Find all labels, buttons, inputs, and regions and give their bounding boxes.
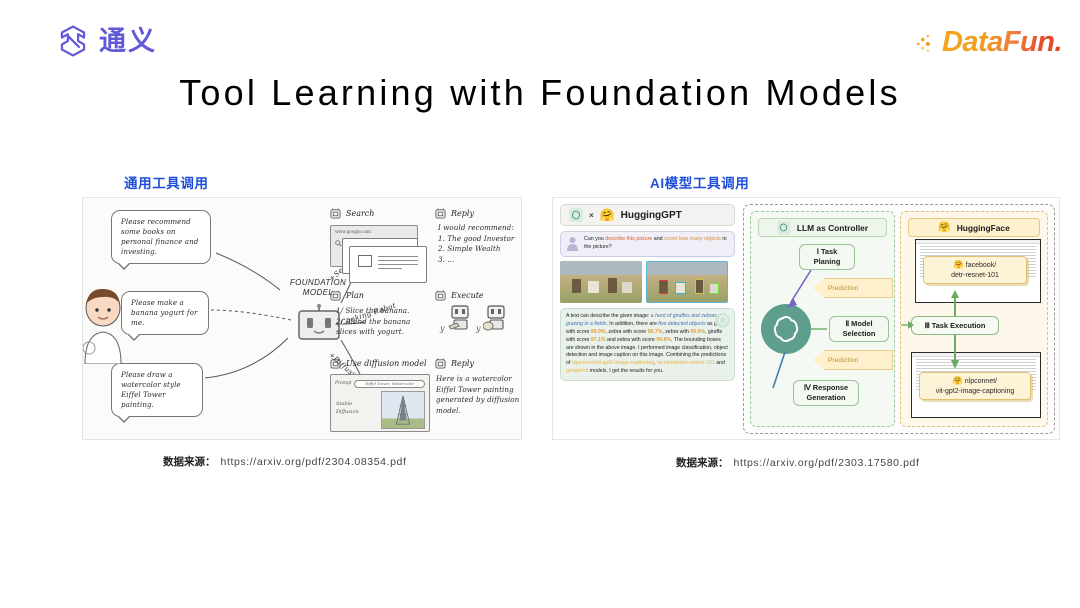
tongyi-wordmark: 通义	[99, 28, 157, 55]
source-left: 数据来源：https://arxiv.org/pdf/2304.08354.pd…	[163, 454, 407, 469]
sd-prompt-value: Eiffel Tower, Watercolor	[354, 380, 425, 388]
panel-head-label: Plan	[346, 291, 364, 300]
search-result-card	[349, 246, 427, 283]
a-p4: , zebra with score	[606, 329, 648, 335]
openai-logo-icon	[569, 208, 583, 222]
stage-model-selection: Ⅱ Model Selection	[829, 316, 889, 342]
eiffel-tower-illustration	[382, 392, 424, 428]
page-title: Tool Learning with Foundation Models	[0, 72, 1080, 114]
photo-animal	[608, 278, 617, 293]
panel-head-plan: Plan	[330, 290, 364, 301]
cooking-robot-icon	[447, 304, 473, 334]
output-photo-annotated	[646, 261, 728, 303]
execute-mark: y	[440, 324, 445, 333]
section-caption-general-tools: 通用工具调用	[124, 172, 209, 192]
result-text-lines	[378, 256, 418, 272]
source-url: https://arxiv.org/pdf/2304.08354.pdf	[221, 456, 407, 468]
photo-bbox	[659, 280, 668, 294]
photo-animal	[572, 279, 581, 293]
column-head-label: LLM as Controller	[797, 223, 868, 233]
input-photo-original	[560, 261, 642, 303]
sd-prompt-label: Prompt	[335, 381, 351, 386]
panel-head-label: Reply	[451, 209, 474, 218]
datafun-logo: DataFun.	[914, 28, 1062, 57]
a-p5: , zebra with	[662, 329, 690, 335]
photo-bbox	[709, 283, 719, 294]
user-avatar-icon	[566, 236, 579, 251]
result-thumbnail	[358, 255, 372, 267]
plan-text: 1/ Slice the banana. 2/ Blend the banana…	[336, 306, 428, 338]
panel-head-execute: Execute	[435, 290, 484, 301]
user-question-box: Can you describe this picture and count …	[560, 231, 735, 257]
assistant-answer-text: A text can describe the given image: a h…	[566, 313, 729, 376]
user-request-bubble-3: Please draw a watercolor style Eiffel To…	[111, 363, 203, 417]
column-head-controller: LLM as Controller	[758, 218, 887, 237]
panel-head-reply-1: Reply	[435, 208, 474, 219]
doc-toolbar	[916, 240, 1040, 244]
a-p1: A text can describe the given image:	[566, 313, 651, 319]
photo-bbox	[675, 282, 686, 294]
a-detected: five detected objects	[658, 321, 705, 327]
panel-head-use-diffusion-model: Use diffusion model	[330, 358, 427, 369]
photo-animal	[622, 282, 632, 293]
a-model-1: nlpconnet/vit-gpt2-image-captioning	[572, 360, 654, 366]
tool-icon	[330, 208, 341, 219]
reply-2-text: Here is a watercolor Eiffel Tower painti…	[436, 374, 522, 417]
photo-animal	[588, 281, 599, 293]
reply-1-text: I would recommend: 1. The good Investor …	[438, 223, 522, 266]
photo-sky	[560, 261, 642, 275]
panel-head-label: Use diffusion model	[346, 359, 427, 368]
user-question-text: Can you describe this picture and count …	[584, 236, 729, 252]
stage-task-execution: Ⅲ Task Execution	[911, 316, 999, 335]
search-icon	[335, 240, 342, 247]
a-p11: models, I get the results for you.	[588, 368, 663, 374]
openai-logo-icon	[777, 221, 791, 235]
sd-model-name: Stable Diffusion	[336, 401, 359, 416]
model-card-detr: 🤗 facebook/ detr-resnet-101	[923, 256, 1027, 284]
a-score-4: 97.1%	[591, 337, 606, 343]
tool-icon	[330, 358, 341, 369]
user-avatar-illustration	[82, 286, 131, 364]
source-label: 数据来源：	[163, 456, 216, 468]
openai-logo-icon	[715, 313, 730, 328]
column-head-huggingface: 🤗 HuggingFace	[908, 218, 1040, 237]
panel-head-label: Reply	[451, 359, 474, 368]
multiply-symbol: ×	[589, 211, 594, 220]
doc-toolbar	[912, 353, 1040, 357]
column-head-label: HuggingFace	[957, 223, 1010, 233]
tool-icon	[435, 208, 446, 219]
a-p2: . In addition, there are	[606, 321, 658, 327]
source-label: 数据来源：	[676, 457, 729, 469]
a-score-3: 99.9%	[690, 329, 705, 335]
figure-general-tool-use: Please recommend some books on personal …	[82, 197, 522, 440]
stage-task-planning: Ⅰ Task Planing	[799, 244, 855, 270]
input-photo-row	[560, 261, 735, 303]
user-request-bubble-1: Please recommend some books on personal …	[111, 210, 211, 264]
panel-head-label: Execute	[451, 291, 484, 300]
model-card-vit-gpt2: 🤗 nlpconnet/ vit-gpt2-image-captioning	[919, 372, 1031, 400]
huggingface-emoji-icon: 🤗	[954, 260, 964, 269]
tongyi-logo: 通义	[56, 24, 157, 58]
q-highlight-2: count how many objects	[664, 236, 721, 242]
browser-url: www.google.com	[335, 229, 371, 234]
tongyi-mark-icon	[56, 24, 90, 58]
q-plain-2: and	[652, 236, 664, 242]
a-score-2: 99.7%	[648, 329, 663, 335]
q-highlight-1: describe this picture	[605, 236, 652, 242]
llm-hub-icon	[761, 304, 811, 354]
huggingface-emoji-icon: 🤗	[938, 223, 950, 233]
app-title: HuggingGPT	[621, 210, 682, 221]
pipeline-container: LLM as Controller Ⅰ Task Planing Ⅱ Model…	[743, 204, 1055, 434]
tool-icon	[435, 358, 446, 369]
prediction-arrow-2: Prediction	[813, 350, 893, 370]
datafun-dots-icon	[914, 30, 940, 56]
a-model-3: google/vit	[566, 368, 588, 374]
sd-prompt-row: Prompt Eiffel Tower, Watercolor	[335, 379, 425, 388]
sd-generated-image	[381, 391, 425, 429]
panel-head-reply-2: Reply	[435, 358, 474, 369]
stable-diffusion-card: Prompt Eiffel Tower, Watercolor Stable D…	[330, 374, 430, 432]
panel-head-label: Search	[346, 209, 374, 218]
a-model-2: facebook/detr-resnet-101	[657, 360, 715, 366]
column-huggingface: 🤗 HuggingFace 🤗 facebook/ detr-resnet-10…	[900, 211, 1048, 427]
chat-column: × 🤗 HuggingGPT Can you describe this pic…	[560, 204, 735, 434]
execute-mark: y	[476, 324, 481, 333]
cooking-robot-icon	[483, 304, 509, 334]
q-plain-1: Can you	[584, 236, 605, 242]
huggingface-emoji-icon: 🤗	[953, 376, 963, 385]
prediction-arrow-1: Prediction	[813, 278, 893, 298]
panel-head-search: Search	[330, 208, 374, 219]
source-url: https://arxiv.org/pdf/2303.17580.pdf	[734, 457, 920, 469]
user-request-bubble-2: Please make a banana yogurt for me.	[121, 291, 209, 335]
a-p10: and	[715, 360, 725, 366]
column-llm-controller: LLM as Controller Ⅰ Task Planing Ⅱ Model…	[750, 211, 895, 427]
a-p7: and zebra with score	[606, 337, 657, 343]
section-caption-ai-model-tools: AI模型工具调用	[650, 172, 749, 192]
photo-bbox	[695, 279, 704, 294]
tool-icon	[330, 290, 341, 301]
a-score-1: 99.9%	[591, 329, 606, 335]
tool-icon	[435, 290, 446, 301]
hugginggpt-title-bar: × 🤗 HuggingGPT	[560, 204, 735, 226]
huggingface-emoji-icon: 🤗	[600, 209, 615, 221]
photo-sky	[647, 262, 727, 276]
stage-response-generation: Ⅳ Response Generation	[793, 380, 859, 406]
source-right: 数据来源：https://arxiv.org/pdf/2303.17580.pd…	[676, 455, 920, 470]
model-card-label: nlpconnet/ vit-gpt2-image-captioning	[936, 378, 1015, 395]
a-score-5: 99.8%	[656, 337, 671, 343]
datafun-wordmark: DataFun.	[942, 28, 1062, 57]
assistant-answer-box: A text can describe the given image: a h…	[560, 308, 735, 381]
figure-hugginggpt: × 🤗 HuggingGPT Can you describe this pic…	[552, 197, 1060, 440]
